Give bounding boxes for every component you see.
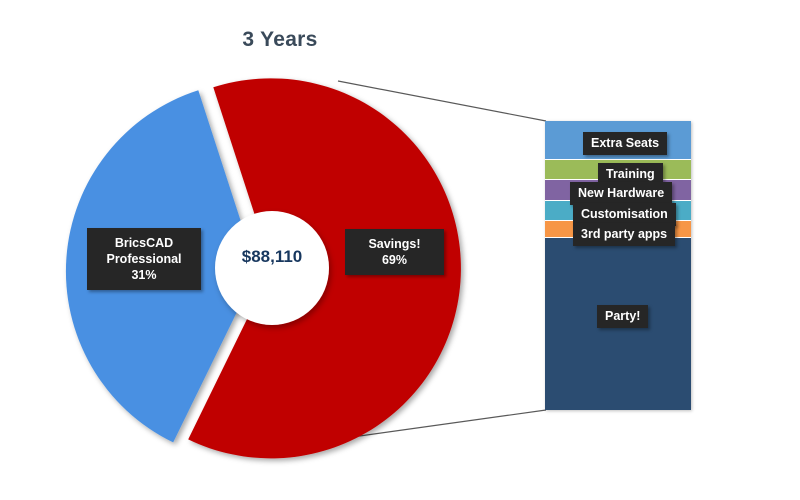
bar-label-extra-seats[interactable]: Extra Seats (583, 132, 667, 155)
bar-label-3rd-party-apps[interactable]: 3rd party apps (573, 223, 675, 246)
pie-label-savings-line1: Savings! (355, 236, 434, 252)
pie-label-savings[interactable]: Savings! 69% (345, 229, 444, 275)
bar-label-party[interactable]: Party! (597, 305, 648, 328)
bar-label-new-hardware[interactable]: New Hardware (570, 182, 672, 205)
doughnut-center-total: $88,110 (222, 247, 322, 267)
doughnut-hole (215, 211, 329, 325)
pie-label-bricscad[interactable]: BricsCAD Professional 31% (87, 228, 201, 290)
pie-label-bricscad-percent: 31% (97, 267, 191, 283)
pie-label-bricscad-line1: BricsCAD (97, 235, 191, 251)
slide-canvas: 3 Years BricsCAD Professional 31% Saving… (0, 0, 800, 500)
pie-label-bricscad-line2: Professional (97, 251, 191, 267)
pie-label-savings-percent: 69% (355, 252, 434, 268)
